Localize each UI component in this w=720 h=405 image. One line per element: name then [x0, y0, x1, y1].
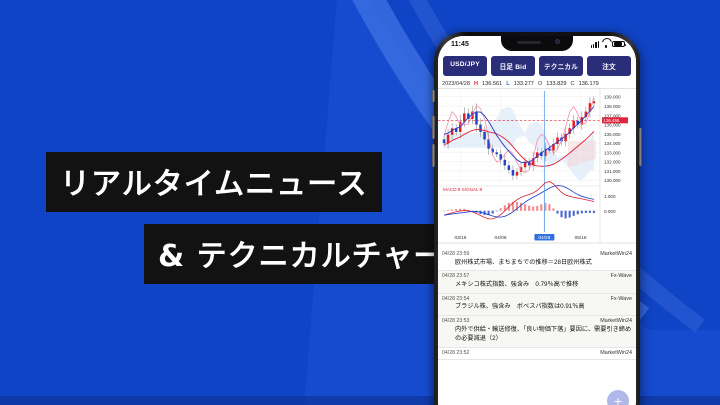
- svg-text:133.000: 133.000: [604, 150, 621, 155]
- ohlc-high-value: 136.561: [482, 81, 502, 87]
- svg-text:1.000: 1.000: [604, 194, 616, 199]
- earpiece-speaker: [517, 41, 541, 44]
- svg-text:MACD:9 SIGNAL:9: MACD:9 SIGNAL:9: [443, 187, 483, 192]
- svg-text:132.000: 132.000: [604, 160, 621, 165]
- news-source: Fx-Wave: [611, 296, 632, 302]
- svg-text:0.000: 0.000: [604, 209, 616, 214]
- news-time: 04/28 23:59: [442, 251, 469, 257]
- svg-text:04/06: 04/06: [495, 235, 507, 241]
- list-item[interactable]: 04/28 23:53 MarketWin24 内外で供給・輸送修復、「良い物価…: [438, 316, 636, 347]
- power-hardware-button[interactable]: [639, 128, 642, 166]
- status-bar: 11:45: [438, 36, 636, 52]
- news-time: 04/28 23:57: [442, 273, 469, 279]
- phone-screen: 11:45 USD/JPY 日足 Bid テクニカル 注文 2023/04/28…: [438, 36, 636, 405]
- news-time: 04/28 23:52: [442, 350, 469, 356]
- svg-text:03/16: 03/16: [454, 235, 466, 241]
- news-source: MarketWin24: [600, 251, 632, 257]
- order-button[interactable]: 注文: [587, 56, 631, 76]
- svg-text:131.000: 131.000: [604, 169, 621, 174]
- volume-down-hardware-button[interactable]: [432, 144, 435, 167]
- headline-line-1: リアルタイムニュース: [46, 152, 382, 212]
- ohlc-low-label: L: [506, 81, 509, 87]
- svg-text:134.000: 134.000: [604, 141, 621, 146]
- svg-text:139.000: 139.000: [604, 95, 621, 100]
- add-button[interactable]: +: [607, 390, 629, 405]
- news-time: 04/28 23:53: [442, 318, 469, 324]
- price-chart[interactable]: 139.000138.000137.000136.000135.000134.0…: [438, 89, 636, 249]
- svg-text:136.455: 136.455: [604, 118, 620, 123]
- device-notch: [501, 36, 573, 51]
- ohlc-close-value: 136.179: [579, 81, 599, 87]
- news-headline: 内外で供給・輸送修復、「良い物価下落」要因に、需要引き締めの必要減退（2）: [442, 324, 632, 343]
- news-headline: 欧州株式市場、まちまちでの推移＝28日欧州株式: [442, 257, 632, 267]
- svg-text:05/18: 05/18: [575, 235, 587, 241]
- phone-mockup: 11:45 USD/JPY 日足 Bid テクニカル 注文 2023/04/28…: [434, 32, 640, 405]
- list-item[interactable]: 04/28 23:52 MarketWin24: [438, 348, 636, 360]
- ohlc-low-value: 133.277: [514, 81, 534, 87]
- wifi-icon: [602, 41, 610, 48]
- news-time: 04/28 23:54: [442, 296, 469, 302]
- news-source: Fx-Wave: [611, 273, 632, 279]
- status-bar-indicators: [591, 41, 625, 48]
- promo-headline-block: リアルタイムニュース & テクニカルチャート: [0, 0, 440, 405]
- mute-switch-hardware-button[interactable]: [432, 90, 435, 102]
- chart-canvas[interactable]: 139.000138.000137.000136.000135.000134.0…: [438, 89, 636, 249]
- svg-text:135.000: 135.000: [604, 132, 621, 137]
- volume-up-hardware-button[interactable]: [432, 116, 435, 139]
- timeframe-button[interactable]: 日足 Bid: [491, 56, 535, 76]
- ohlc-high-label: H: [474, 81, 478, 87]
- symbol-button[interactable]: USD/JPY: [443, 56, 487, 76]
- front-camera: [555, 39, 560, 44]
- ohlc-open-value: 133.829: [546, 81, 566, 87]
- svg-text:138.000: 138.000: [604, 104, 621, 109]
- status-bar-clock: 11:45: [451, 41, 469, 48]
- news-headline: メキシコ株式指数、強含み 0.79％高で推移: [442, 279, 632, 289]
- news-headline: ブラジル株、強含み ボベスパ指数は0.91％高: [442, 302, 632, 312]
- ohlc-date: 2023/04/28: [442, 81, 470, 87]
- news-source: MarketWin24: [600, 350, 632, 356]
- technical-button[interactable]: テクニカル: [539, 56, 583, 76]
- news-list[interactable]: 04/28 23:59 MarketWin24 欧州株式市場、まちまちでの推移＝…: [438, 249, 636, 360]
- svg-text:130.000: 130.000: [604, 178, 621, 183]
- ohlc-summary-bar: 2023/04/28 H 136.561 L 133.277 O 133.829…: [438, 80, 636, 90]
- svg-text:04/28: 04/28: [538, 235, 550, 241]
- ohlc-open-label: O: [538, 81, 542, 87]
- battery-icon: [612, 41, 625, 48]
- list-item[interactable]: 04/28 23:57 Fx-Wave メキシコ株式指数、強含み 0.79％高で…: [438, 271, 636, 293]
- chart-toolbar: USD/JPY 日足 Bid テクニカル 注文: [438, 52, 636, 80]
- list-item[interactable]: 04/28 23:54 Fx-Wave ブラジル株、強含み ボベスパ指数は0.9…: [438, 294, 636, 316]
- news-source: MarketWin24: [600, 318, 632, 324]
- ohlc-close-label: C: [571, 81, 575, 87]
- list-item[interactable]: 04/28 23:59 MarketWin24 欧州株式市場、まちまちでの推移＝…: [438, 249, 636, 271]
- cellular-bars-icon: [591, 41, 599, 48]
